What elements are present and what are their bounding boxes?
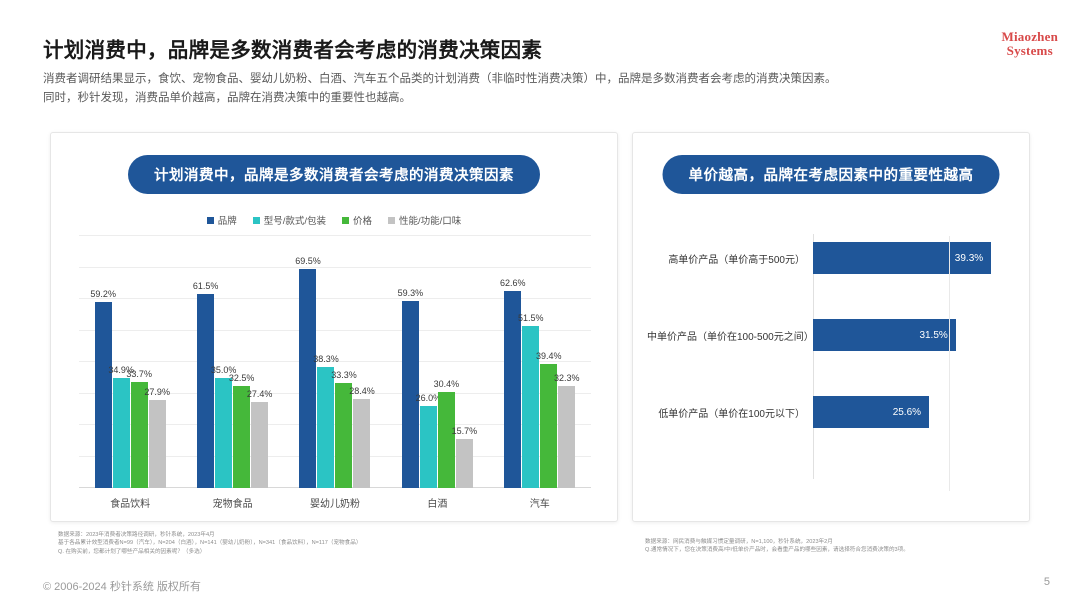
page-subtitle: 消费者调研结果显示，食饮、宠物食品、婴幼儿奶粉、白酒、汽车五个品类的计划消费（非… [43, 70, 973, 108]
bar-column[interactable]: 33.3% [335, 236, 352, 488]
bar-column[interactable]: 15.7% [456, 236, 473, 488]
h-bar-value-label: 31.5% [919, 330, 947, 341]
h-bar-track: 31.5% [813, 319, 1017, 351]
legend-swatch-icon [388, 217, 395, 224]
bar-column[interactable]: 34.9% [113, 236, 130, 488]
bar-value-label: 32.3% [554, 373, 580, 383]
h-bar-row[interactable]: 中单价产品（单价在100-500元之间）31.5% [647, 319, 1017, 351]
bar[interactable] [353, 399, 370, 488]
bar[interactable] [420, 406, 437, 488]
h-bar[interactable]: 31.5% [813, 319, 956, 351]
page-title: 计划消费中，品牌是多数消费者会考虑的消费决策因素 [43, 33, 542, 63]
left-chart-panel: 计划消费中，品牌是多数消费者会考虑的消费决策因素 品牌型号/款式/包装价格性能/… [50, 132, 618, 522]
left-footnote-line-3: Q. 在购买前，您都计划了哪些产品相关的因素呢？（多选） [58, 548, 361, 556]
bar-value-label: 28.4% [349, 386, 375, 396]
legend-item-4[interactable]: 性能/功能/口味 [388, 213, 461, 227]
left-footnote-line-1: 数据来源：2023年消费者决策路径调研，秒针系统，2023年4月 [58, 531, 361, 539]
legend-label: 性能/功能/口味 [399, 213, 461, 227]
bar-column[interactable]: 61.5% [197, 236, 214, 488]
bar-column[interactable]: 35.0% [215, 236, 232, 488]
grouped-bar-chart: 59.2%34.9%33.7%27.9%61.5%35.0%32.5%27.4%… [79, 236, 591, 488]
legend-swatch-icon [253, 217, 260, 224]
right-chart-banner: 单价越高，品牌在考虑因素中的重要性越高 [663, 155, 1000, 194]
left-chart-banner: 计划消费中，品牌是多数消费者会考虑的消费决策因素 [128, 155, 540, 194]
bar[interactable] [149, 400, 166, 488]
bar[interactable] [233, 386, 250, 488]
bar[interactable] [335, 383, 352, 488]
legend-label: 品牌 [218, 213, 237, 227]
bar-column[interactable]: 27.9% [149, 236, 166, 488]
bar[interactable] [299, 269, 316, 488]
right-footnote-line-1: 数据来源：网民消费与触媒习惯定量调研，N=1,100，秒针系统，2023年2月 [645, 538, 909, 546]
bar-group: 69.5%38.3%33.3%28.4% [299, 236, 370, 488]
h-bar-value-label: 39.3% [955, 253, 983, 264]
x-axis-label: 婴幼儿奶粉 [295, 495, 375, 510]
legend-label: 型号/款式/包装 [264, 213, 326, 227]
bar[interactable] [558, 386, 575, 488]
x-axis-label: 宠物食品 [193, 495, 273, 510]
right-footnote-line-2: Q.通常情况下，您在决策消费高/中/低单价产品时，会看重产品的哪些因素，请选择符… [645, 546, 909, 554]
x-axis-label: 白酒 [397, 495, 477, 510]
subtitle-line-2: 同时，秒针发现，消费品单价越高，品牌在消费决策中的重要性也越高。 [43, 89, 973, 108]
bar-group: 62.6%51.5%39.4%32.3% [504, 236, 575, 488]
bar[interactable] [317, 367, 334, 488]
h-bar-value-label: 25.6% [893, 407, 921, 418]
bar-column[interactable]: 33.7% [131, 236, 148, 488]
subtitle-line-1: 消费者调研结果显示，食饮、宠物食品、婴幼儿奶粉、白酒、汽车五个品类的计划消费（非… [43, 70, 973, 89]
h-bar[interactable]: 25.6% [813, 396, 929, 428]
right-footnote: 数据来源：网民消费与触媒习惯定量调研，N=1,100，秒针系统，2023年2月 … [645, 538, 909, 555]
slide: 计划消费中，品牌是多数消费者会考虑的消费决策因素 消费者调研结果显示，食饮、宠物… [0, 0, 1080, 608]
bar-value-label: 15.7% [452, 426, 478, 436]
bar[interactable] [251, 402, 268, 488]
horizontal-bar-chart: 高单价产品（单价高于500元）39.3%中单价产品（单价在100-500元之间）… [647, 228, 1017, 483]
h-bar-category-label: 中单价产品（单价在100-500元之间） [647, 328, 813, 343]
legend-item-3[interactable]: 价格 [342, 213, 372, 227]
bar-column[interactable]: 26.0% [420, 236, 437, 488]
h-bar-row[interactable]: 低单价产品（单价在100元以下）25.6% [647, 396, 1017, 428]
logo-line-1: Miaozhen [1002, 30, 1058, 44]
bar-column[interactable]: 27.4% [251, 236, 268, 488]
chart-legend: 品牌型号/款式/包装价格性能/功能/口味 [51, 213, 617, 227]
legend-swatch-icon [342, 217, 349, 224]
bar-column[interactable]: 32.3% [558, 236, 575, 488]
bar-column[interactable]: 38.3% [317, 236, 334, 488]
chart-x-axis-labels: 食品饮料宠物食品婴幼儿奶粉白酒汽车 [79, 495, 591, 510]
legend-swatch-icon [207, 217, 214, 224]
bar-column[interactable]: 51.5% [522, 236, 539, 488]
legend-item-2[interactable]: 型号/款式/包装 [253, 213, 326, 227]
h-bar-track: 39.3% [813, 242, 1017, 274]
bar[interactable] [456, 439, 473, 488]
bar-column[interactable]: 59.3% [402, 236, 419, 488]
h-bar[interactable]: 39.3% [813, 242, 991, 274]
bar-column[interactable]: 59.2% [95, 236, 112, 488]
bar-column[interactable]: 30.4% [438, 236, 455, 488]
miaozhen-logo: Miaozhen Systems [1002, 30, 1058, 57]
bar-column[interactable]: 62.6% [504, 236, 521, 488]
bar-value-label: 27.4% [247, 389, 273, 399]
logo-line-2: Systems [1002, 44, 1058, 58]
h-bar-category-label: 高单价产品（单价高于500元） [647, 251, 813, 266]
bar-group: 59.3%26.0%30.4%15.7% [402, 236, 473, 488]
bar[interactable] [131, 382, 148, 488]
legend-label: 价格 [353, 213, 372, 227]
bar-group: 59.2%34.9%33.7%27.9% [95, 236, 166, 488]
bar[interactable] [113, 378, 130, 488]
bar-group: 61.5%35.0%32.5%27.4% [197, 236, 268, 488]
bar-column[interactable]: 28.4% [353, 236, 370, 488]
bar[interactable] [438, 392, 455, 488]
x-axis-label: 汽车 [500, 495, 580, 510]
bar-column[interactable]: 39.4% [540, 236, 557, 488]
h-bar-track: 25.6% [813, 396, 1017, 428]
legend-item-1[interactable]: 品牌 [207, 213, 237, 227]
h-bar-category-label: 低单价产品（单价在100元以下） [647, 405, 813, 420]
left-footnote-line-2: 基于各品累计效型消费者N=99（汽车），N=204（白酒），N=141（婴幼儿奶… [58, 539, 361, 547]
bar-column[interactable]: 32.5% [233, 236, 250, 488]
page-number: 5 [1044, 576, 1050, 588]
h-chart-gridline [949, 236, 950, 491]
bar[interactable] [95, 302, 112, 488]
bar[interactable] [215, 378, 232, 488]
copyright-text: © 2006-2024 秒针系统 版权所有 [43, 578, 201, 594]
chart-bar-groups: 59.2%34.9%33.7%27.9%61.5%35.0%32.5%27.4%… [79, 236, 591, 488]
x-axis-label: 食品饮料 [90, 495, 170, 510]
h-bar-row[interactable]: 高单价产品（单价高于500元）39.3% [647, 242, 1017, 274]
right-chart-panel: 单价越高，品牌在考虑因素中的重要性越高 高单价产品（单价高于500元）39.3%… [632, 132, 1030, 522]
bar[interactable] [197, 294, 214, 488]
bar-value-label: 27.9% [144, 387, 170, 397]
left-footnote: 数据来源：2023年消费者决策路径调研，秒针系统，2023年4月 基于各品累计效… [58, 531, 361, 556]
